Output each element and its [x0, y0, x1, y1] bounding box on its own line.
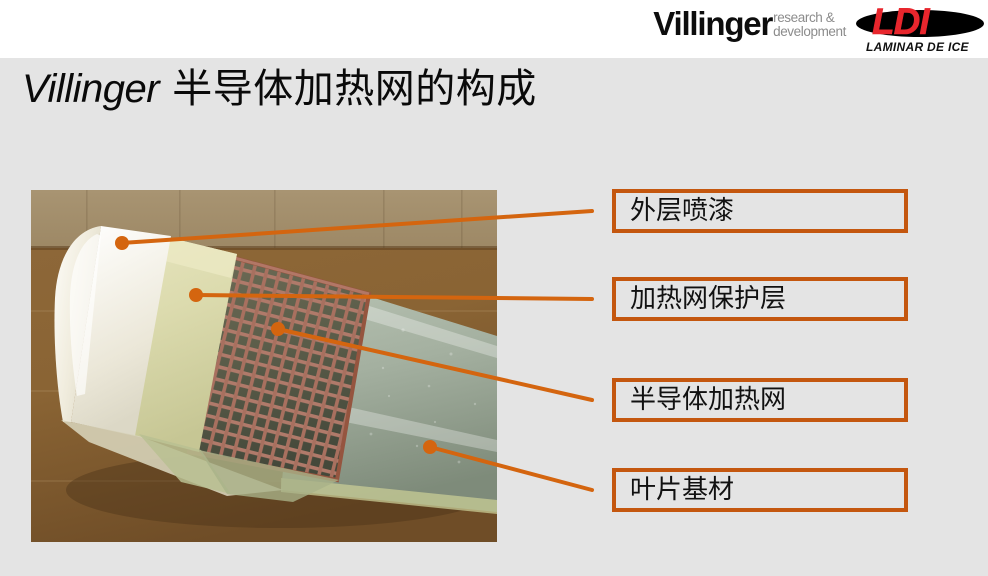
blade-sample-photo [31, 190, 497, 542]
ldi-wordmark: LDI [872, 3, 929, 41]
ldi-tagline: LAMINAR DE ICE [866, 40, 969, 54]
slide-title-cjk: 半导体加热网的构成 [159, 66, 537, 112]
villinger-logo-subtitle: research & development [773, 11, 846, 39]
callout-label-text: 半导体加热网 [630, 385, 786, 415]
villinger-subtitle-line2: development [773, 25, 846, 39]
ldi-logo: LDI LAMINAR DE ICE [856, 2, 984, 56]
callout-label-semiconductor-mesh[interactable]: 半导体加热网 [612, 378, 908, 422]
villinger-subtitle-line1: research & [773, 11, 846, 25]
callout-label-outer-paint[interactable]: 外层喷漆 [612, 189, 908, 233]
blade-sample-illustration [31, 190, 497, 542]
callout-label-text: 加热网保护层 [630, 284, 786, 314]
logo-row: Villinger research & development LDI LAM… [653, 2, 984, 56]
villinger-logo: Villinger research & development [653, 6, 846, 50]
callout-label-mesh-protection[interactable]: 加热网保护层 [612, 277, 908, 321]
callout-label-text: 外层喷漆 [630, 196, 734, 226]
villinger-wordmark: Villinger [653, 6, 772, 42]
slide-title: Villinger 半导体加热网的构成 [22, 62, 537, 116]
slide-title-latin: Villinger [22, 67, 159, 111]
header-band: Villinger research & development LDI LAM… [0, 0, 988, 58]
slide-canvas: Villinger research & development LDI LAM… [0, 0, 988, 576]
callout-label-blade-substrate[interactable]: 叶片基材 [612, 468, 908, 512]
callout-label-text: 叶片基材 [630, 475, 734, 505]
